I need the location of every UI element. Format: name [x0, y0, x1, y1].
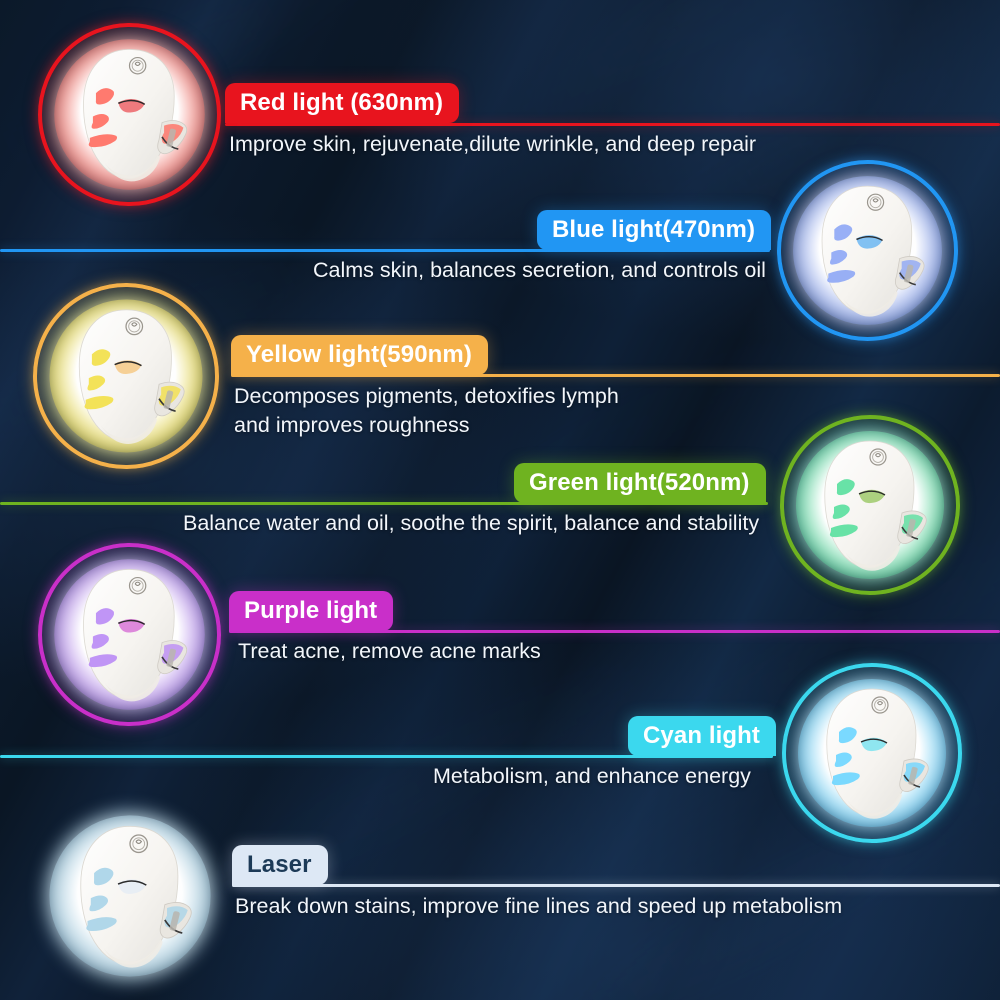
- mask-ring-purple: [38, 543, 221, 726]
- divider-laser: [232, 884, 1000, 887]
- label-blue[interactable]: Blue light(470nm): [537, 210, 771, 250]
- mask-figure-blue: [777, 160, 958, 341]
- infographic-root: Red light (630nm)Improve skin, rejuvenat…: [0, 0, 1000, 1000]
- label-laser[interactable]: Laser: [232, 845, 328, 885]
- mask-figure-green: [780, 415, 960, 595]
- mask-ring-yellow: [33, 283, 219, 469]
- description-green: Balance water and oil, soothe the spirit…: [183, 509, 759, 538]
- label-red[interactable]: Red light (630nm): [225, 83, 459, 123]
- power-button-icon: [130, 835, 147, 852]
- label-yellow[interactable]: Yellow light(590nm): [231, 335, 488, 375]
- mask-figure-cyan: [782, 663, 962, 843]
- description-red: Improve skin, rejuvenate,dilute wrinkle,…: [229, 130, 756, 159]
- label-cyan[interactable]: Cyan light: [628, 716, 776, 756]
- label-purple[interactable]: Purple light: [229, 591, 393, 631]
- description-laser: Break down stains, improve fine lines an…: [235, 892, 842, 921]
- description-purple: Treat acne, remove acne marks: [238, 637, 541, 666]
- description-cyan: Metabolism, and enhance energy: [433, 762, 751, 791]
- mask-ring-blue: [777, 160, 958, 341]
- mask-figure-yellow: [33, 283, 219, 469]
- led-mask-illustration: [32, 798, 228, 994]
- description-blue: Calms skin, balances secretion, and cont…: [313, 256, 766, 285]
- mask-figure-red: [38, 23, 221, 206]
- label-green[interactable]: Green light(520nm): [514, 463, 766, 503]
- mask-artwork: [32, 798, 228, 994]
- mask-ring-red: [38, 23, 221, 206]
- mask-figure-purple: [38, 543, 221, 726]
- mask-ring-green: [780, 415, 960, 595]
- mask-figure-laser: [32, 798, 228, 994]
- mask-ring-cyan: [782, 663, 962, 843]
- divider-red: [225, 123, 1000, 126]
- description-yellow: Decomposes pigments, detoxifies lymph an…: [234, 382, 619, 440]
